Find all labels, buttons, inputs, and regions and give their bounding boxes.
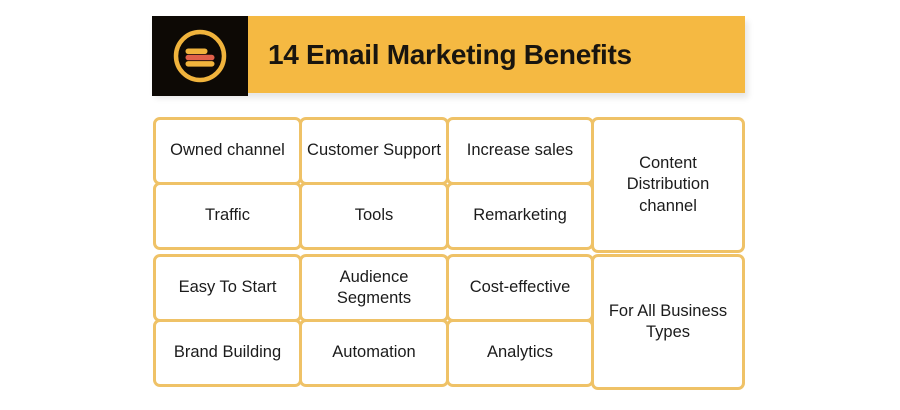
grid-column-2-bottom: Audience Segments Automation	[302, 254, 449, 390]
benefit-cell-merged[interactable]: For All Business Types	[591, 254, 745, 390]
benefit-cell[interactable]: Traffic	[153, 182, 302, 250]
grid-column-3-top: Increase sales Remarketing	[449, 117, 594, 253]
benefit-label: Automation	[332, 342, 415, 363]
grid-column-4-top: Content Distribution channel	[594, 117, 745, 253]
benefit-label: Analytics	[487, 342, 553, 363]
benefits-grid: Owned channel Traffic Customer Support T…	[153, 117, 745, 390]
benefit-cell[interactable]: Increase sales	[446, 117, 594, 185]
benefit-label: Audience Segments	[307, 267, 441, 309]
benefit-cell[interactable]: Automation	[299, 319, 449, 387]
benefit-cell[interactable]: Audience Segments	[299, 254, 449, 322]
grid-column-2-top: Customer Support Tools	[302, 117, 449, 253]
grid-column-1-bottom: Easy To Start Brand Building	[153, 254, 302, 390]
benefit-cell[interactable]: Remarketing	[446, 182, 594, 250]
benefit-cell[interactable]: Customer Support	[299, 117, 449, 185]
benefit-label: Content Distribution channel	[599, 153, 737, 216]
grid-column-1-top: Owned channel Traffic	[153, 117, 302, 253]
benefit-label: For All Business Types	[599, 301, 737, 343]
benefit-label: Owned channel	[170, 140, 285, 161]
benefit-cell-merged[interactable]: Content Distribution channel	[591, 117, 745, 253]
benefit-cell[interactable]: Cost-effective	[446, 254, 594, 322]
benefit-label: Brand Building	[174, 342, 281, 363]
brand-logo-tile	[152, 16, 248, 96]
benefit-cell[interactable]: Owned channel	[153, 117, 302, 185]
benefit-label: Traffic	[205, 205, 250, 226]
benefit-label: Remarketing	[473, 205, 567, 226]
brand-circle-bars-logo	[171, 27, 229, 85]
benefit-cell[interactable]: Analytics	[446, 319, 594, 387]
benefit-label: Cost-effective	[470, 277, 571, 298]
page-title: 14 Email Marketing Benefits	[268, 16, 632, 93]
benefits-grid-bottom-block: Easy To Start Brand Building Audience Se…	[153, 254, 745, 390]
benefit-label: Tools	[355, 205, 394, 226]
benefit-cell[interactable]: Brand Building	[153, 319, 302, 387]
benefit-label: Easy To Start	[179, 277, 277, 298]
benefit-label: Customer Support	[307, 140, 441, 161]
benefits-grid-top-block: Owned channel Traffic Customer Support T…	[153, 117, 745, 253]
grid-column-4-bottom: For All Business Types	[594, 254, 745, 390]
benefit-cell[interactable]: Tools	[299, 182, 449, 250]
benefit-label: Increase sales	[467, 140, 573, 161]
benefit-cell[interactable]: Easy To Start	[153, 254, 302, 322]
grid-column-3-bottom: Cost-effective Analytics	[449, 254, 594, 390]
